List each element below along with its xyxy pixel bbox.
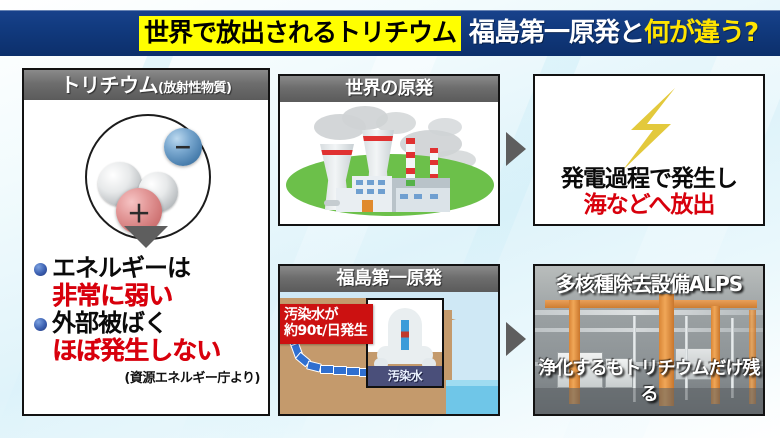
alps-caption: 浄化するもトリチウムだけ残る bbox=[535, 354, 763, 406]
callout-line2: 約90t/日発生 bbox=[284, 324, 367, 340]
bullet-label: エネルギーは bbox=[52, 256, 190, 282]
contaminated-water-callout: 汚染水が 約90t/日発生 bbox=[280, 304, 373, 344]
header-highlight-title: 世界で放出されるトリチウム bbox=[139, 16, 461, 51]
arrow-to-bolt-icon bbox=[506, 132, 526, 166]
bolt-caption-line2: 海などへ放出 bbox=[535, 193, 763, 218]
plant-building bbox=[396, 188, 450, 212]
window-icon bbox=[367, 189, 374, 194]
window-icon bbox=[378, 189, 385, 194]
down-arrow-icon bbox=[24, 226, 268, 248]
world-plant-panel: 世界の原発 bbox=[278, 74, 500, 226]
bullet-dot-icon bbox=[34, 263, 47, 276]
reactor-vessel-icon bbox=[388, 308, 422, 356]
window-icon bbox=[400, 194, 408, 199]
tank-icon bbox=[324, 200, 340, 206]
fukushima-panel-title: 福島第一原発 bbox=[280, 266, 498, 292]
alps-title: 多核種除去設備ALPS bbox=[535, 268, 763, 297]
water-flow-dash bbox=[346, 367, 360, 376]
tritium-panel-subtitle: (放射性物質) bbox=[158, 81, 231, 96]
tritium-panel-header: トリチウム(放射性物質) bbox=[24, 70, 268, 100]
electron-icon: − bbox=[164, 128, 202, 166]
bolt-caption-line1: 発電過程で発生し bbox=[535, 167, 763, 192]
window-icon bbox=[414, 194, 422, 199]
fukushima-panel: 福島第一原発 汚染水 bbox=[278, 264, 500, 416]
bullet-label: 外部被ばく bbox=[52, 311, 167, 337]
bullet-dot-icon bbox=[34, 318, 47, 331]
infographic-stage: 世界で放出されるトリチウム 福島第一原発と 何が違う? トリチウム(放射性物質)… bbox=[0, 0, 780, 438]
header-white-title: 福島第一原発と bbox=[469, 20, 644, 46]
callout-line1: 汚染水が bbox=[284, 308, 367, 324]
bullet-emphasis: 非常に弱い bbox=[52, 282, 260, 310]
smoke-icon bbox=[428, 118, 462, 136]
marker-icon bbox=[406, 180, 415, 186]
fuel-rod-icon bbox=[401, 320, 409, 350]
contaminated-water-label: 汚染水 bbox=[368, 367, 442, 384]
sea-area bbox=[446, 380, 498, 414]
door-icon bbox=[362, 200, 373, 212]
header-yellow-title: 何が違う? bbox=[644, 20, 758, 46]
window-icon bbox=[367, 180, 374, 185]
water-flow-dash bbox=[320, 365, 334, 374]
bolt-panel: 発電過程で発生し 海などへ放出 bbox=[533, 74, 765, 226]
source-note: (資源エネルギー庁より) bbox=[24, 365, 268, 386]
water-flow-dash bbox=[333, 366, 347, 375]
electron-sign: − bbox=[164, 128, 202, 166]
window-icon bbox=[378, 180, 385, 185]
arrow-to-alps-icon bbox=[506, 322, 526, 356]
fukushima-illustration: 汚染水 汚染水が 約90t/日発生 bbox=[280, 292, 498, 414]
window-icon bbox=[356, 189, 363, 194]
bolt-caption: 発電過程で発生し 海などへ放出 bbox=[535, 167, 763, 218]
world-plant-illustration bbox=[280, 102, 498, 224]
list-item: エネルギーは bbox=[34, 256, 260, 282]
header-band: 世界で放出されるトリチウム 福島第一原発と 何が違う? bbox=[0, 10, 780, 56]
tritium-atom-diagram: ＋ − bbox=[24, 100, 268, 250]
tritium-bullet-list: エネルギーは 非常に弱い 外部被ばく ほぼ発生しない bbox=[24, 250, 268, 365]
window-icon bbox=[356, 180, 363, 185]
reactor-card: 汚染水 bbox=[366, 298, 444, 388]
bullet-emphasis: ほぼ発生しない bbox=[52, 337, 260, 365]
alps-panel: 多核種除去設備ALPS 浄化するもトリチウムだけ残る bbox=[533, 264, 765, 416]
world-plant-title: 世界の原発 bbox=[280, 76, 498, 102]
tritium-panel: トリチウム(放射性物質) ＋ − エネルギーは 非常に弱い bbox=[22, 68, 270, 416]
tritium-panel-title: トリチウム bbox=[61, 73, 159, 97]
window-icon bbox=[430, 194, 438, 199]
lightning-bolt-icon bbox=[615, 86, 683, 172]
list-item: 外部被ばく bbox=[34, 311, 260, 337]
